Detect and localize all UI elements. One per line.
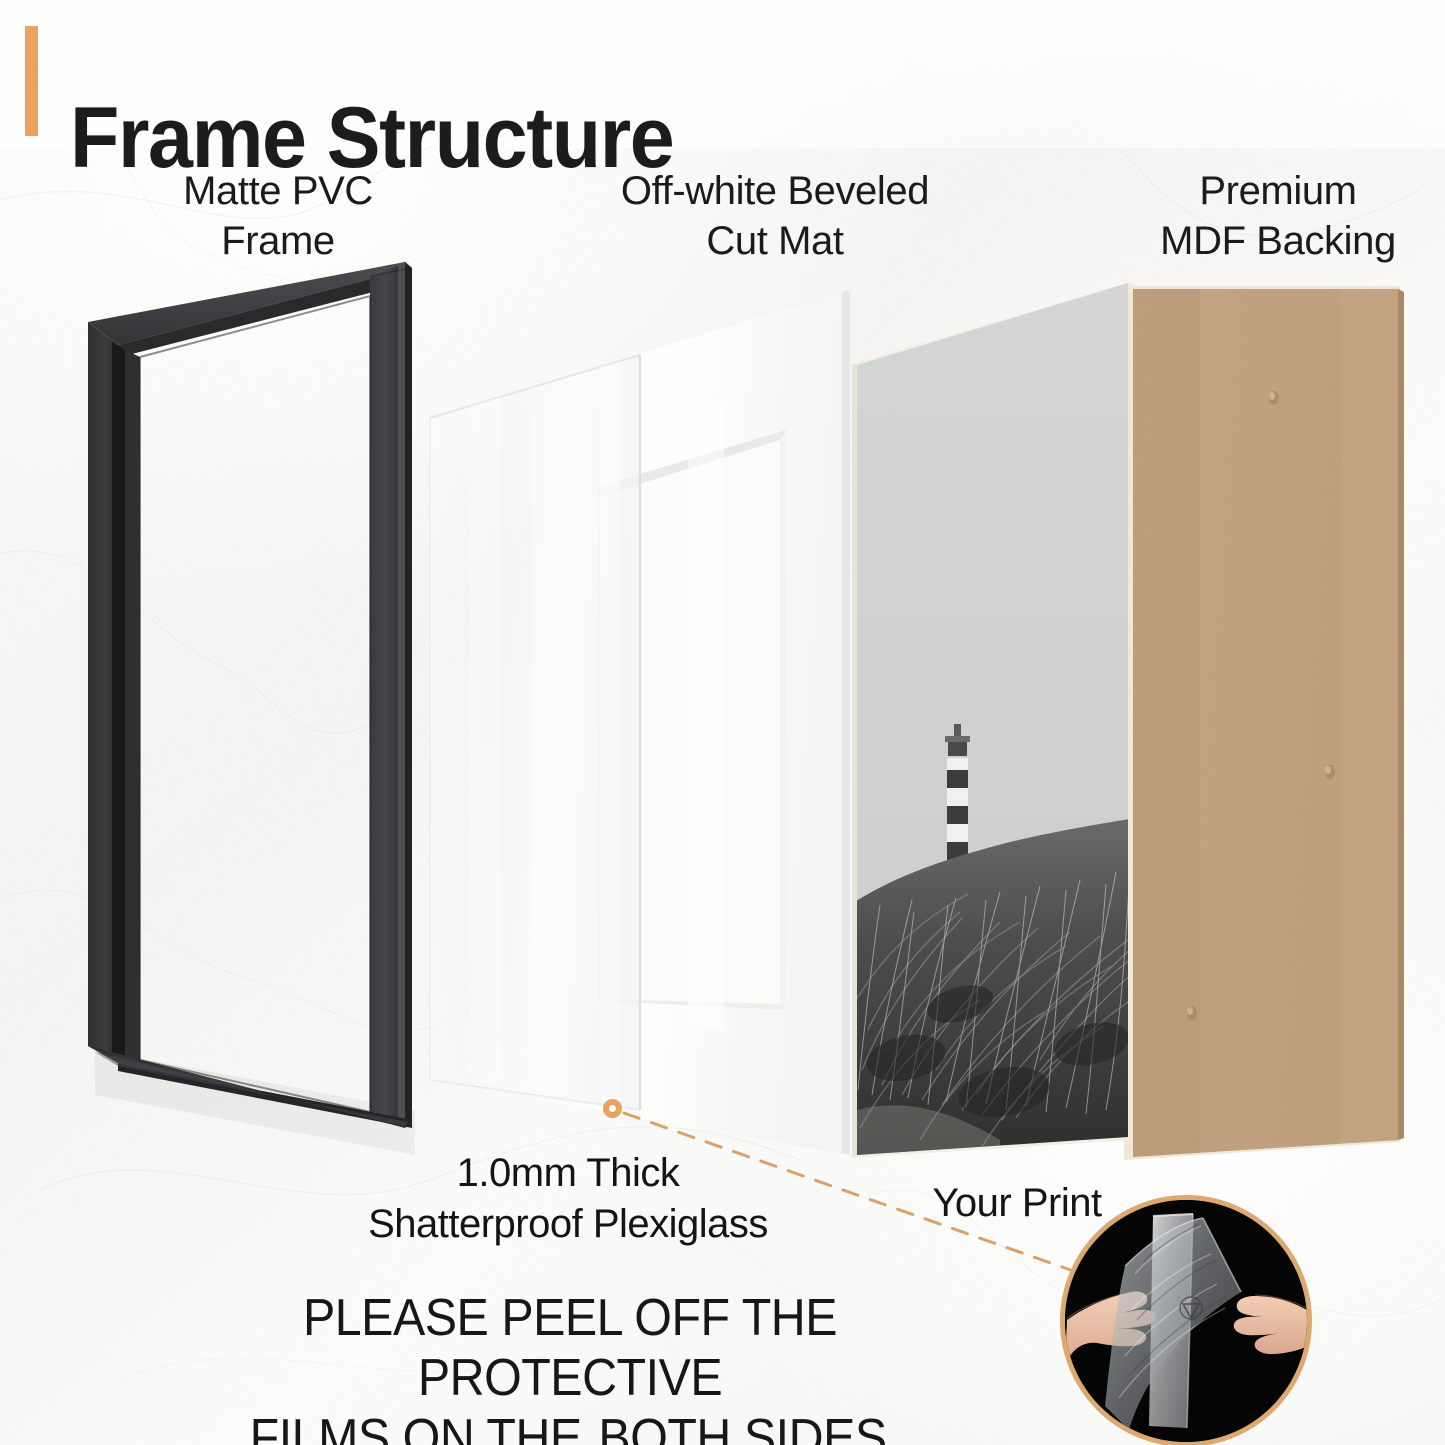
notice-line-1: PLEASE PEEL OFF THE PROTECTIVE: [303, 1289, 837, 1407]
plexiglass-callout-pointer: [603, 1099, 622, 1118]
product-infographic: Frame Structure Matte PVC Frame Off-whit…: [0, 0, 1445, 1445]
peel-film-illustration: [1065, 1200, 1307, 1442]
peel-protective-film-photo: [1060, 1195, 1312, 1445]
notice-highlight: BOTH SIDES: [595, 1408, 891, 1445]
notice-highlight-text: BOTH SIDES: [598, 1409, 886, 1445]
notice-line-2-prefix: FILMS ON THE: [250, 1409, 595, 1445]
peel-film-notice: PLEASE PEEL OFF THE PROTECTIVE FILMS ON …: [161, 1288, 979, 1445]
